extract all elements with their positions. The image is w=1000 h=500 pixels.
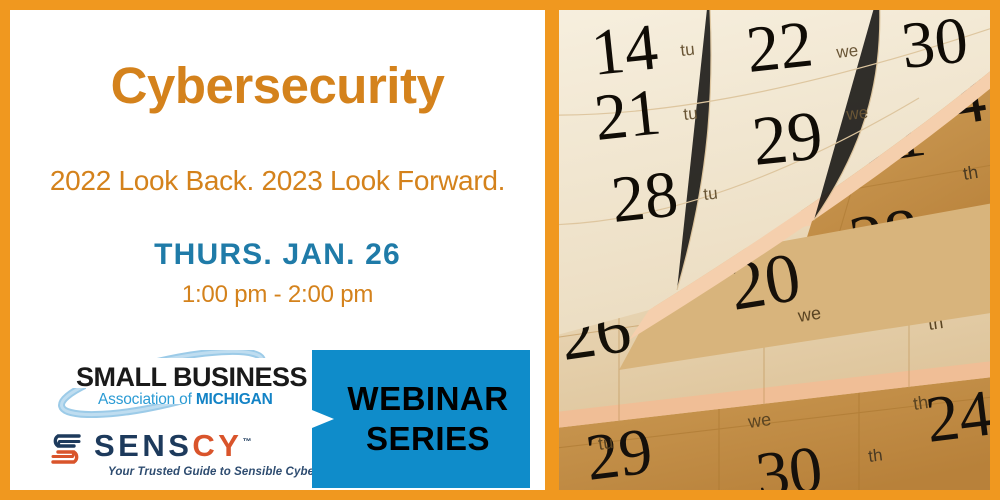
calendar-photo: 29 30 24 th <box>559 10 990 490</box>
svg-text:tu: tu <box>597 432 615 454</box>
senscy-logo: SENSCY™ Your Trusted Guide to Sensible C… <box>46 430 276 488</box>
webinar-badge-line2: SERIES <box>312 419 530 459</box>
svg-text:tu: tu <box>679 40 695 60</box>
page-title: Cybersecurity <box>10 60 545 111</box>
svg-text:we: we <box>796 303 823 327</box>
sbam-line2: Association of MICHIGAN <box>98 392 298 408</box>
svg-text:th: th <box>961 162 979 184</box>
svg-text:30: 30 <box>898 10 971 83</box>
event-date: THURS. JAN. 26 <box>10 238 545 271</box>
webinar-badge-line1: WEBINAR <box>312 379 530 419</box>
senscy-trademark: ™ <box>243 437 252 447</box>
svg-text:we: we <box>834 41 859 62</box>
left-content-panel: Cybersecurity 2022 Look Back. 2023 Look … <box>10 10 545 490</box>
senscy-sens: SENS <box>94 428 192 463</box>
svg-text:30: 30 <box>752 432 826 490</box>
event-time: 1:00 pm - 2:00 pm <box>10 282 545 308</box>
svg-text:we: we <box>746 409 773 432</box>
svg-text:29: 29 <box>582 414 656 490</box>
svg-text:we: we <box>844 103 869 124</box>
svg-text:22: 22 <box>743 10 816 87</box>
senscy-wordmark: SENSCY™ <box>94 430 252 461</box>
svg-text:th: th <box>912 392 930 414</box>
senscy-tagline: Your Trusted Guide to Sensible Cyber <box>108 466 319 478</box>
senscy-cy: CY <box>192 428 242 463</box>
sbam-association-word: Association of <box>98 391 196 408</box>
svg-text:tu: tu <box>702 184 718 204</box>
vertical-divider <box>545 0 559 500</box>
subtitle: 2022 Look Back. 2023 Look Forward. <box>10 166 545 197</box>
calendar-illustration: 29 30 24 th <box>559 10 990 490</box>
svg-text:tu: tu <box>682 104 698 124</box>
senscy-mark-icon <box>46 432 86 466</box>
sbam-michigan-word: MICHIGAN <box>196 391 273 408</box>
svg-text:24: 24 <box>922 376 990 456</box>
sbam-line1: SMALL BUSINESS <box>76 364 286 391</box>
sbam-logo: SMALL BUSINESS Association of MICHIGAN <box>42 350 287 418</box>
svg-text:21: 21 <box>591 75 664 154</box>
promo-banner: Cybersecurity 2022 Look Back. 2023 Look … <box>0 0 1000 500</box>
svg-text:th: th <box>867 445 883 466</box>
svg-text:28: 28 <box>608 157 681 236</box>
webinar-series-badge: WEBINAR SERIES <box>312 350 530 488</box>
svg-text:29: 29 <box>749 97 827 181</box>
